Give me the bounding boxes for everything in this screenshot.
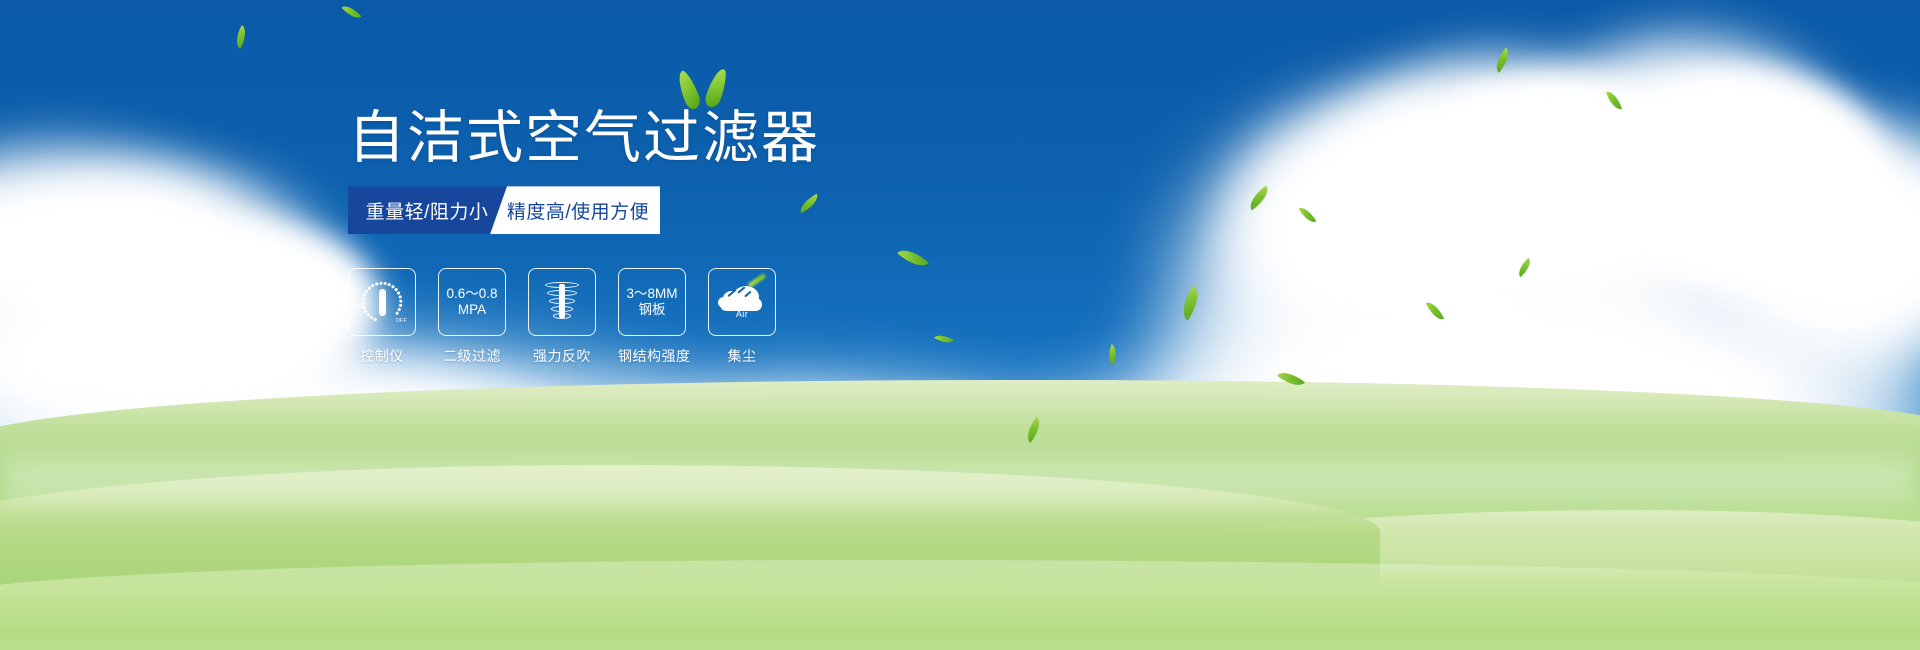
feature-dust[interactable]: Air 集尘 (708, 268, 776, 366)
pressure-text-icon: 0.6～0.8 MPA (446, 286, 497, 318)
dial-label-off: OFF (396, 318, 407, 324)
feature-steel-label: 钢结构强度 (618, 346, 686, 366)
feature-controller-label: 控制仪 (348, 346, 416, 366)
tag-precision-convenience[interactable]: 精度高/使用方便 (490, 186, 660, 234)
feature-filtration-label: 二级过滤 (438, 346, 506, 366)
leaf-sprout-icon (679, 66, 739, 114)
promo-banner: 自洁式空气过滤器 重量轻/阻力小 精度高/使用方便 (0, 0, 1920, 650)
tag-group: 重量轻/阻力小 精度高/使用方便 (348, 186, 670, 234)
page-title: 自洁式空气过滤器 (348, 108, 888, 168)
feature-blowback-box (528, 268, 596, 336)
dial-switch-icon: NO OFF (359, 279, 405, 325)
feature-controller-box: NO OFF (348, 268, 416, 336)
dial-label-no: NO (357, 304, 365, 310)
tag-weight-resistance[interactable]: 重量轻/阻力小 (348, 186, 506, 234)
title-wrap: 自洁式空气过滤器 (348, 108, 888, 168)
plate-text-icon: 3～8MM 钢板 (626, 286, 677, 318)
coil-spring-icon (540, 280, 584, 324)
banner-content: 自洁式空气过滤器 重量轻/阻力小 精度高/使用方便 (348, 108, 888, 366)
feature-steel-box: 3～8MM 钢板 (618, 268, 686, 336)
feature-blowback-label: 强力反吹 (528, 346, 596, 366)
feature-dust-box: Air (708, 268, 776, 336)
feature-controller[interactable]: NO OFF 控制仪 (348, 268, 416, 366)
feature-filtration[interactable]: 0.6～0.8 MPA 二级过滤 (438, 268, 506, 366)
grass-foreground (0, 560, 1920, 650)
air-label: Air (717, 309, 767, 319)
feature-filtration-box: 0.6～0.8 MPA (438, 268, 506, 336)
feature-steel[interactable]: 3～8MM 钢板 钢结构强度 (618, 268, 686, 366)
feature-blowback[interactable]: 强力反吹 (528, 268, 596, 366)
feature-list: NO OFF 控制仪 0.6～0.8 MPA 二级过滤 (348, 268, 888, 366)
feature-dust-label: 集尘 (708, 346, 776, 366)
air-cloud-icon: Air (717, 280, 767, 324)
